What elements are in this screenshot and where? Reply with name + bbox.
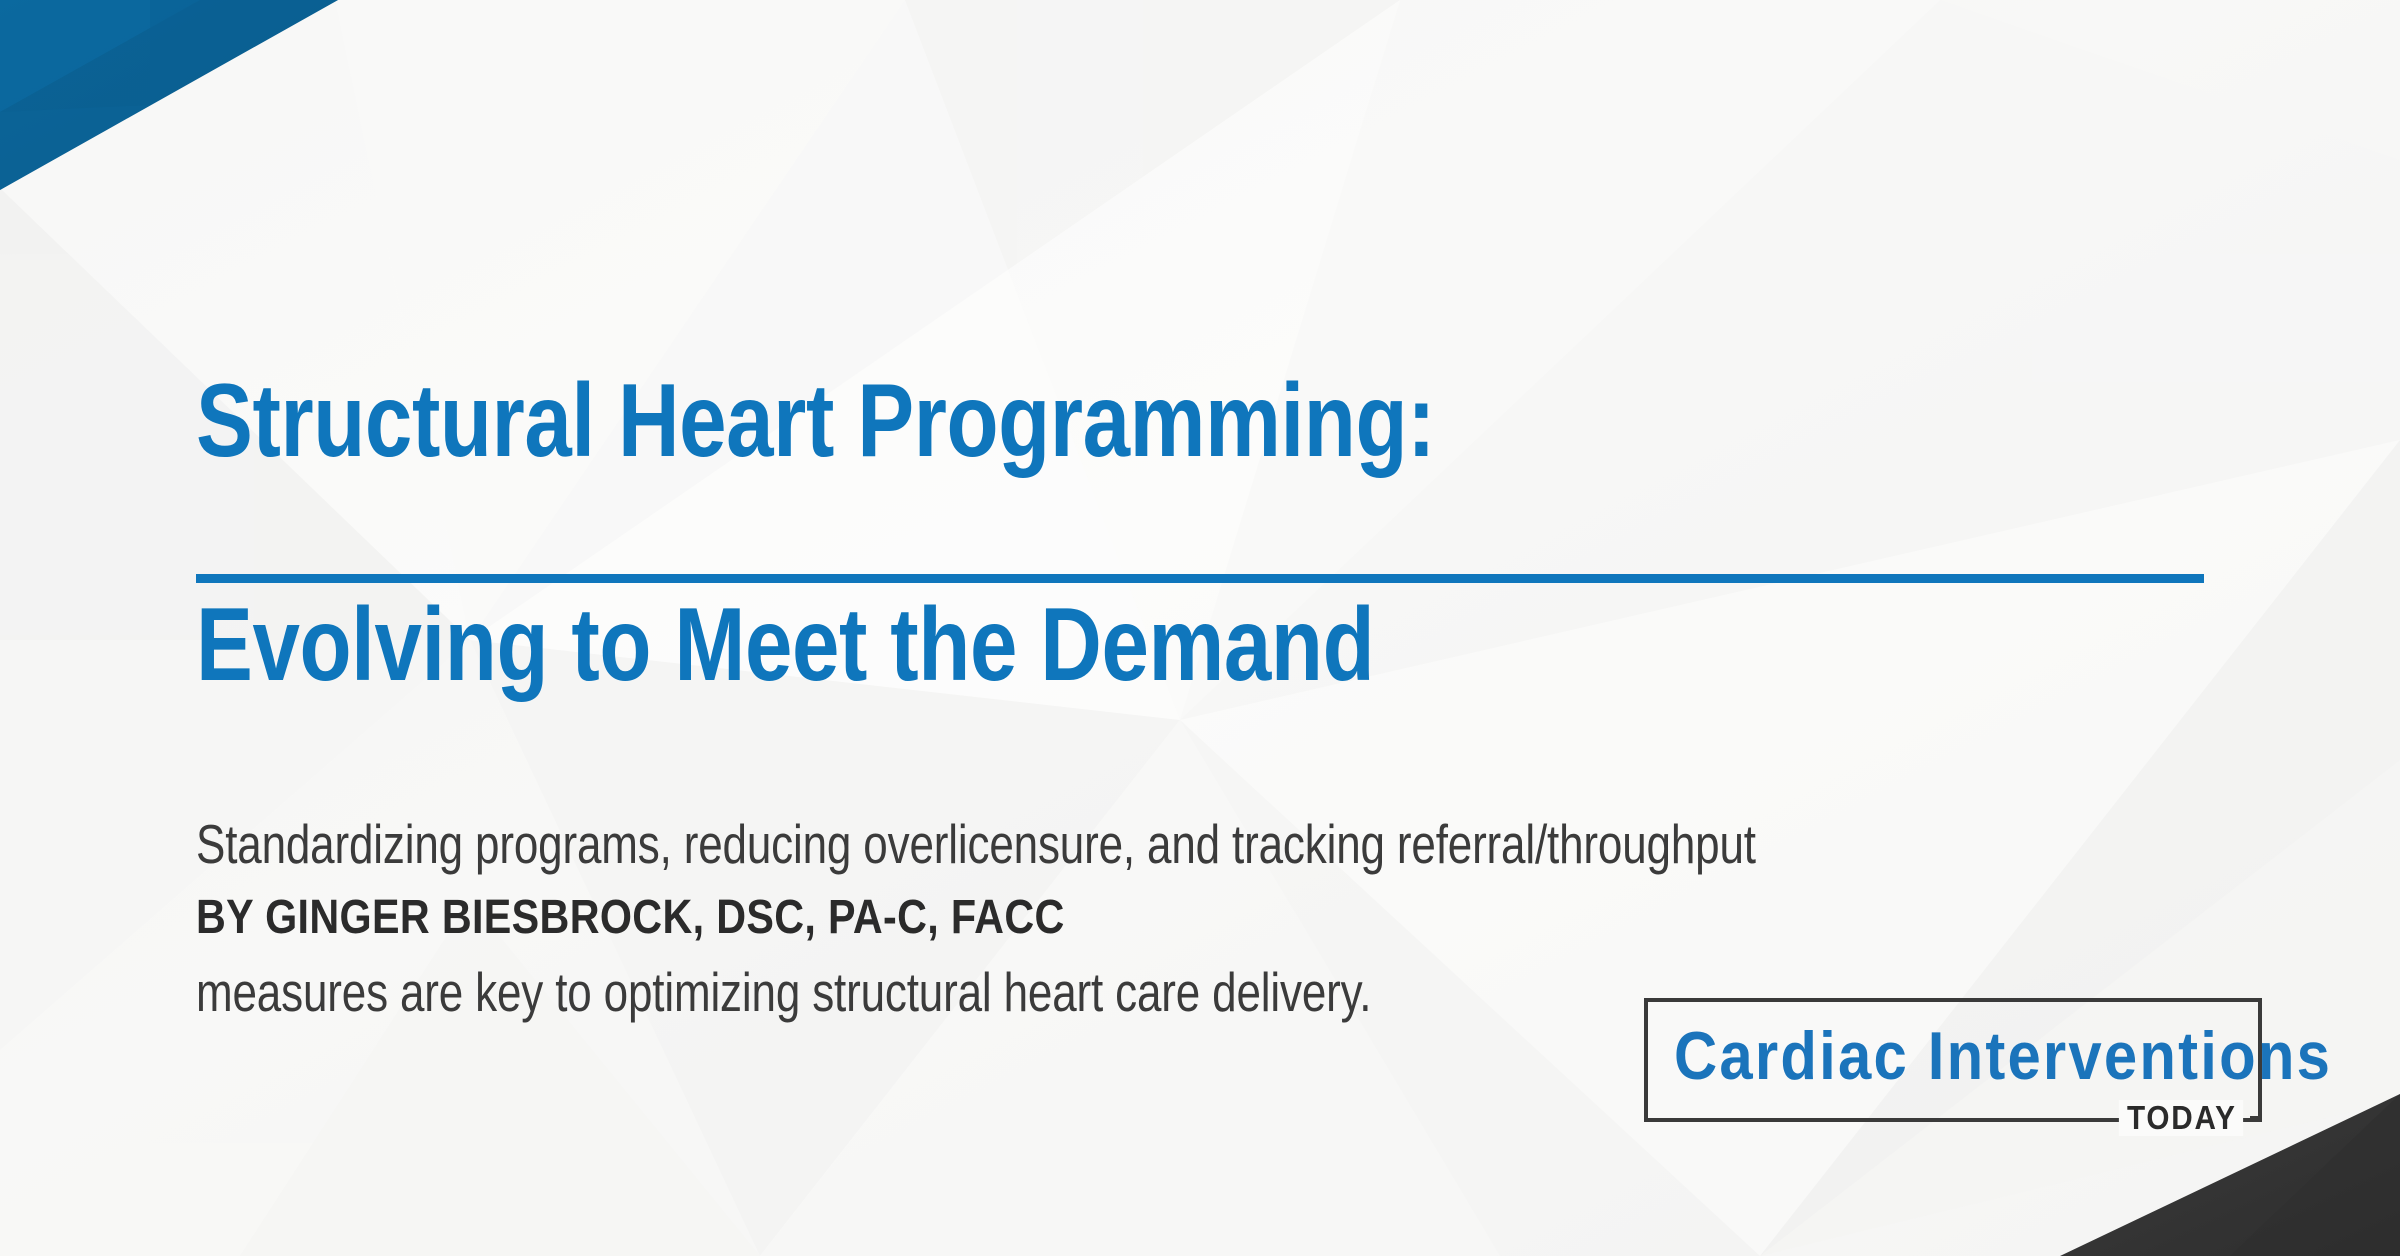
logo-secondary-text: TODAY [2119,1100,2243,1136]
deck-line-1: Standardizing programs, reducing overlic… [196,807,2196,881]
logo-secondary-group: TODAY [2112,1098,2262,1138]
logo-tail-rule [2250,1116,2262,1120]
logo-primary-text: Cardiac Interventions [1674,1020,2332,1092]
article-title-card: Structural Heart Programming: Evolving t… [0,0,2400,1256]
headline-line-2: Evolving to Meet the Demand [196,589,1721,701]
title-divider-rule [196,574,2204,583]
headline-line-1: Structural Heart Programming: [196,365,1721,477]
publication-logo: Cardiac Interventions TODAY [1644,998,2262,1122]
page-title: Structural Heart Programming: Evolving t… [196,253,1721,813]
article-byline: BY GINGER BIESBROCK, DSC, PA-C, FACC [196,890,1065,946]
